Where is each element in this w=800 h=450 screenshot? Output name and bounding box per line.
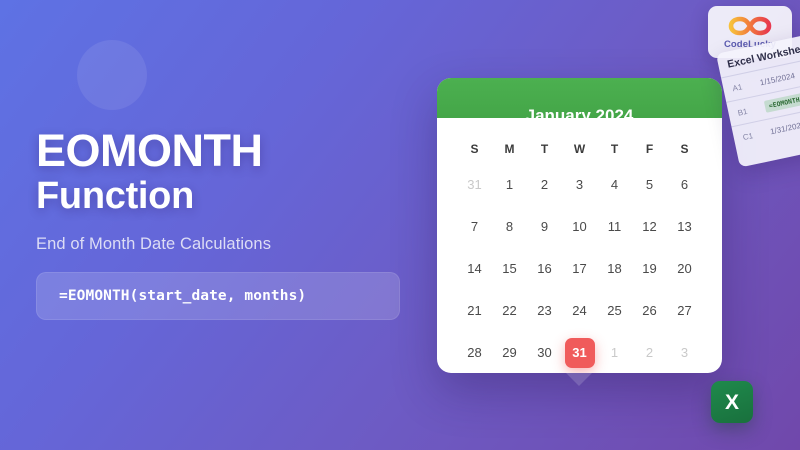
infinity-icon (728, 15, 772, 37)
calendar-day[interactable]: 6 (670, 170, 700, 200)
excel-app-icon[interactable]: X (711, 381, 753, 423)
calendar-day[interactable]: 2 (635, 338, 665, 368)
calendar-day[interactable]: 15 (495, 254, 525, 284)
calendar-day[interactable]: 10 (565, 212, 595, 242)
calendar-day[interactable]: 2 (530, 170, 560, 200)
calendar-day[interactable]: 4 (600, 170, 630, 200)
calendar-day[interactable]: 3 (670, 338, 700, 368)
calendar-day[interactable]: 27 (670, 296, 700, 326)
calendar-day[interactable]: 8 (495, 212, 525, 242)
calendar-day-selected[interactable]: 31 (565, 338, 595, 368)
calendar-weekday-3: W (574, 140, 585, 158)
calendar-day[interactable]: 20 (670, 254, 700, 284)
calendar-month-label: January 2024 (437, 106, 722, 126)
calendar-day[interactable]: 29 (495, 338, 525, 368)
page-subtitle: End of Month Date Calculations (36, 235, 416, 254)
excel-x-glyph: X (725, 392, 739, 413)
calendar-day[interactable]: 31 (460, 170, 490, 200)
calendar-day[interactable]: 22 (495, 296, 525, 326)
calendar-weekday-5: F (646, 140, 653, 158)
calendar-weekday-2: T (541, 140, 548, 158)
calendar-day[interactable]: 16 (530, 254, 560, 284)
worksheet-cell-value: 1/31/2024 (769, 120, 800, 136)
worksheet-cell-ref: B1 (737, 103, 766, 118)
worksheet-cell-formula: =EOMONTH(A1,0) (764, 88, 800, 113)
calendar-header: January 2024 (437, 78, 722, 118)
calendar-day[interactable]: 24 (565, 296, 595, 326)
calendar-day[interactable]: 21 (460, 296, 490, 326)
calendar-day[interactable]: 13 (670, 212, 700, 242)
page-title-secondary: Function (36, 175, 416, 219)
hero-text-block: EOMONTH Function End of Month Date Calcu… (36, 128, 416, 254)
page-title-primary: EOMONTH (36, 128, 416, 173)
calendar-day[interactable]: 12 (635, 212, 665, 242)
calendar-day[interactable]: 23 (530, 296, 560, 326)
calendar-weekday-0: S (470, 140, 478, 158)
calendar-weekday-1: M (505, 140, 515, 158)
calendar-card: January 2024 SMTWTFS31123456789101112131… (437, 78, 722, 373)
calendar-weekday-4: T (611, 140, 618, 158)
calendar-day[interactable]: 28 (460, 338, 490, 368)
calendar-day[interactable]: 19 (635, 254, 665, 284)
formula-syntax-bar: =EOMONTH(start_date, months) (36, 272, 400, 320)
calendar-day[interactable]: 9 (530, 212, 560, 242)
decorative-circle (77, 40, 147, 110)
formula-syntax-text: =EOMONTH(start_date, months) (59, 288, 306, 304)
slide-canvas: EOMONTH Function End of Month Date Calcu… (0, 0, 800, 450)
calendar-day[interactable]: 7 (460, 212, 490, 242)
calendar-day[interactable]: 25 (600, 296, 630, 326)
calendar-day[interactable]: 1 (495, 170, 525, 200)
calendar-day[interactable]: 26 (635, 296, 665, 326)
calendar-day[interactable]: 18 (600, 254, 630, 284)
worksheet-cell-ref: C1 (742, 127, 771, 142)
calendar-day[interactable]: 5 (635, 170, 665, 200)
calendar-day[interactable]: 1 (600, 338, 630, 368)
calendar-pointer-triangle (566, 373, 592, 386)
worksheet-cell-ref: A1 (732, 78, 761, 93)
calendar-day[interactable]: 11 (600, 212, 630, 242)
worksheet-cell-value: 1/15/2024 (759, 71, 796, 87)
calendar-day[interactable]: 30 (530, 338, 560, 368)
calendar-day[interactable]: 3 (565, 170, 595, 200)
calendar-day[interactable]: 14 (460, 254, 490, 284)
calendar-grid: SMTWTFS311234567891011121314151617181920… (437, 118, 722, 368)
calendar-day[interactable]: 17 (565, 254, 595, 284)
calendar-weekday-6: S (680, 140, 688, 158)
